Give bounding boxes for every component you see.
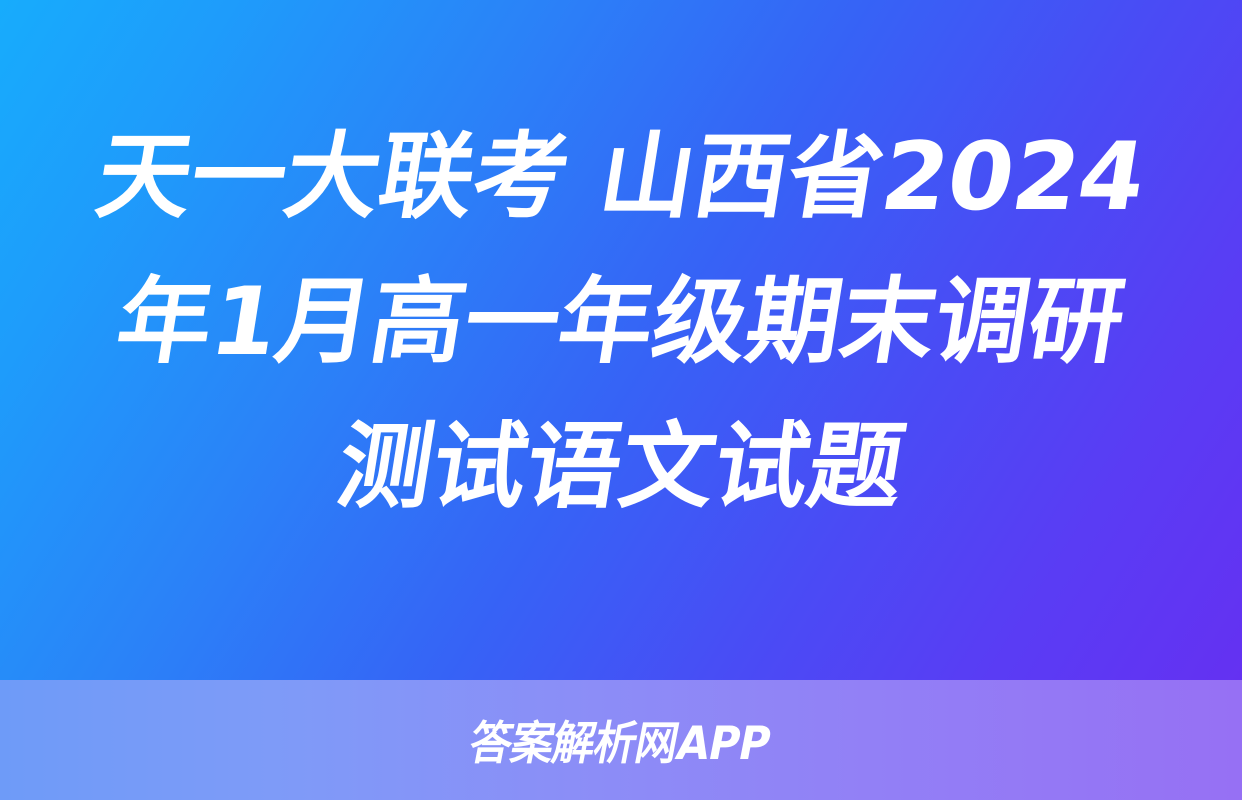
- exam-cover-card: 天一大联考 山西省2024 年1月高一年级期末调研 测试语文试题 答案解析网AP…: [0, 0, 1242, 800]
- exam-title-block: 天一大联考 山西省2024 年1月高一年级期末调研 测试语文试题: [0, 0, 1242, 680]
- exam-title-line-1: 天一大联考 山西省2024: [86, 105, 1155, 250]
- exam-title-line-2: 年1月高一年级期末调研: [107, 250, 1135, 395]
- exam-title-line-3: 测试语文试题: [328, 395, 915, 540]
- watermark-band: 答案解析网APP: [0, 680, 1242, 800]
- app-watermark-label: 答案解析网APP: [465, 707, 777, 773]
